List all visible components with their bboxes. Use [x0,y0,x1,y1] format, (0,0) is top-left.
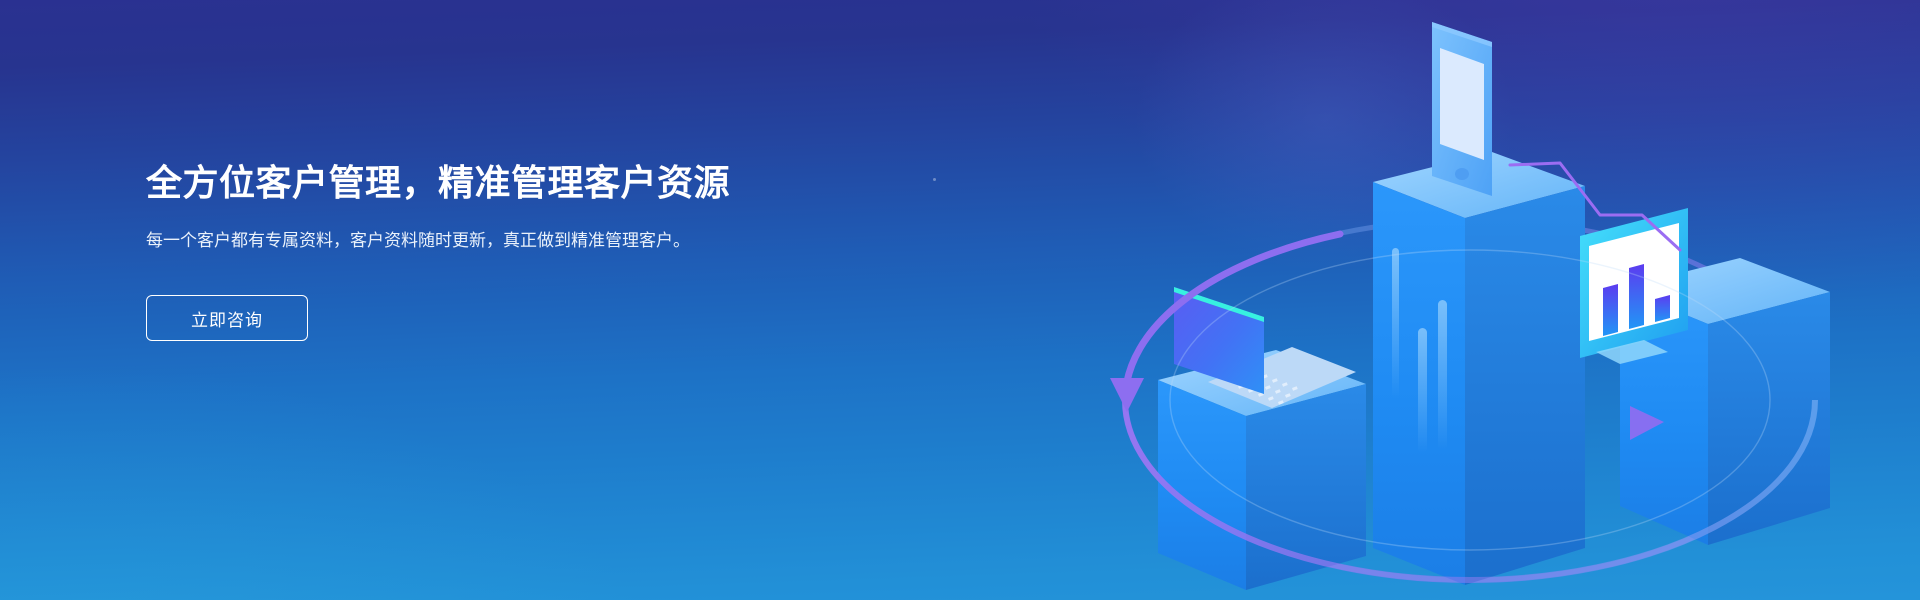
hero-text-column: 全方位客户管理，精准管理客户资源 每一个客户都有专属资料，客户资料随时更新，真正… [146,160,786,341]
tablet-home-button [1455,168,1469,180]
decorative-speck [933,178,936,181]
monitor-chart-bar-1 [1603,284,1618,336]
pillar-center-streak-3 [1438,300,1447,450]
pillar-center-streak-2 [1418,328,1427,453]
page-title: 全方位客户管理，精准管理客户资源 [146,160,786,205]
hero-illustration [1040,0,1920,600]
tablet-device [1432,22,1492,196]
hero-banner: 全方位客户管理，精准管理客户资源 每一个客户都有专属资料，客户资料随时更新，真正… [0,0,1920,600]
pillar-center [1373,152,1585,585]
pillar-center-streak-1 [1392,248,1399,398]
hero-subtitle: 每一个客户都有专属资料，客户资料随时更新，真正做到精准管理客户。 [146,227,731,255]
tablet-screen [1440,48,1484,160]
consult-now-button[interactable]: 立即咨询 [146,295,308,341]
orbit-arrow-left [1110,378,1144,412]
monitor-chart-bar-3 [1655,295,1670,322]
pillar-center-side [1465,186,1585,585]
